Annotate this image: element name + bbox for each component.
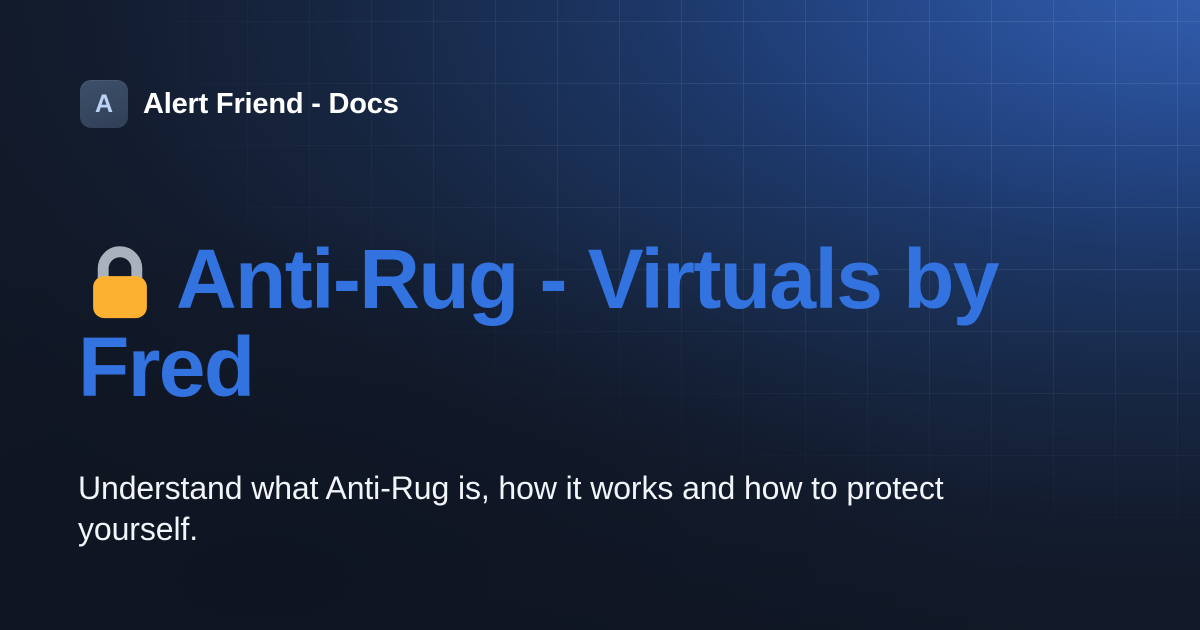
brand-logo-badge: A <box>80 80 128 128</box>
lock-icon <box>78 240 162 324</box>
brand-header: A Alert Friend - Docs <box>80 80 399 128</box>
page-title: Anti-Rug - Virtuals by Fred <box>78 236 1128 411</box>
page-subtitle: Understand what Anti-Rug is, how it work… <box>78 468 978 550</box>
page-title-text: Anti-Rug - Virtuals by Fred <box>78 232 998 414</box>
brand-title: Alert Friend - Docs <box>143 88 399 121</box>
og-preview-card: A Alert Friend - Docs Anti-Rug - Virtual… <box>0 0 1200 630</box>
card-content: A Alert Friend - Docs Anti-Rug - Virtual… <box>0 0 1200 630</box>
